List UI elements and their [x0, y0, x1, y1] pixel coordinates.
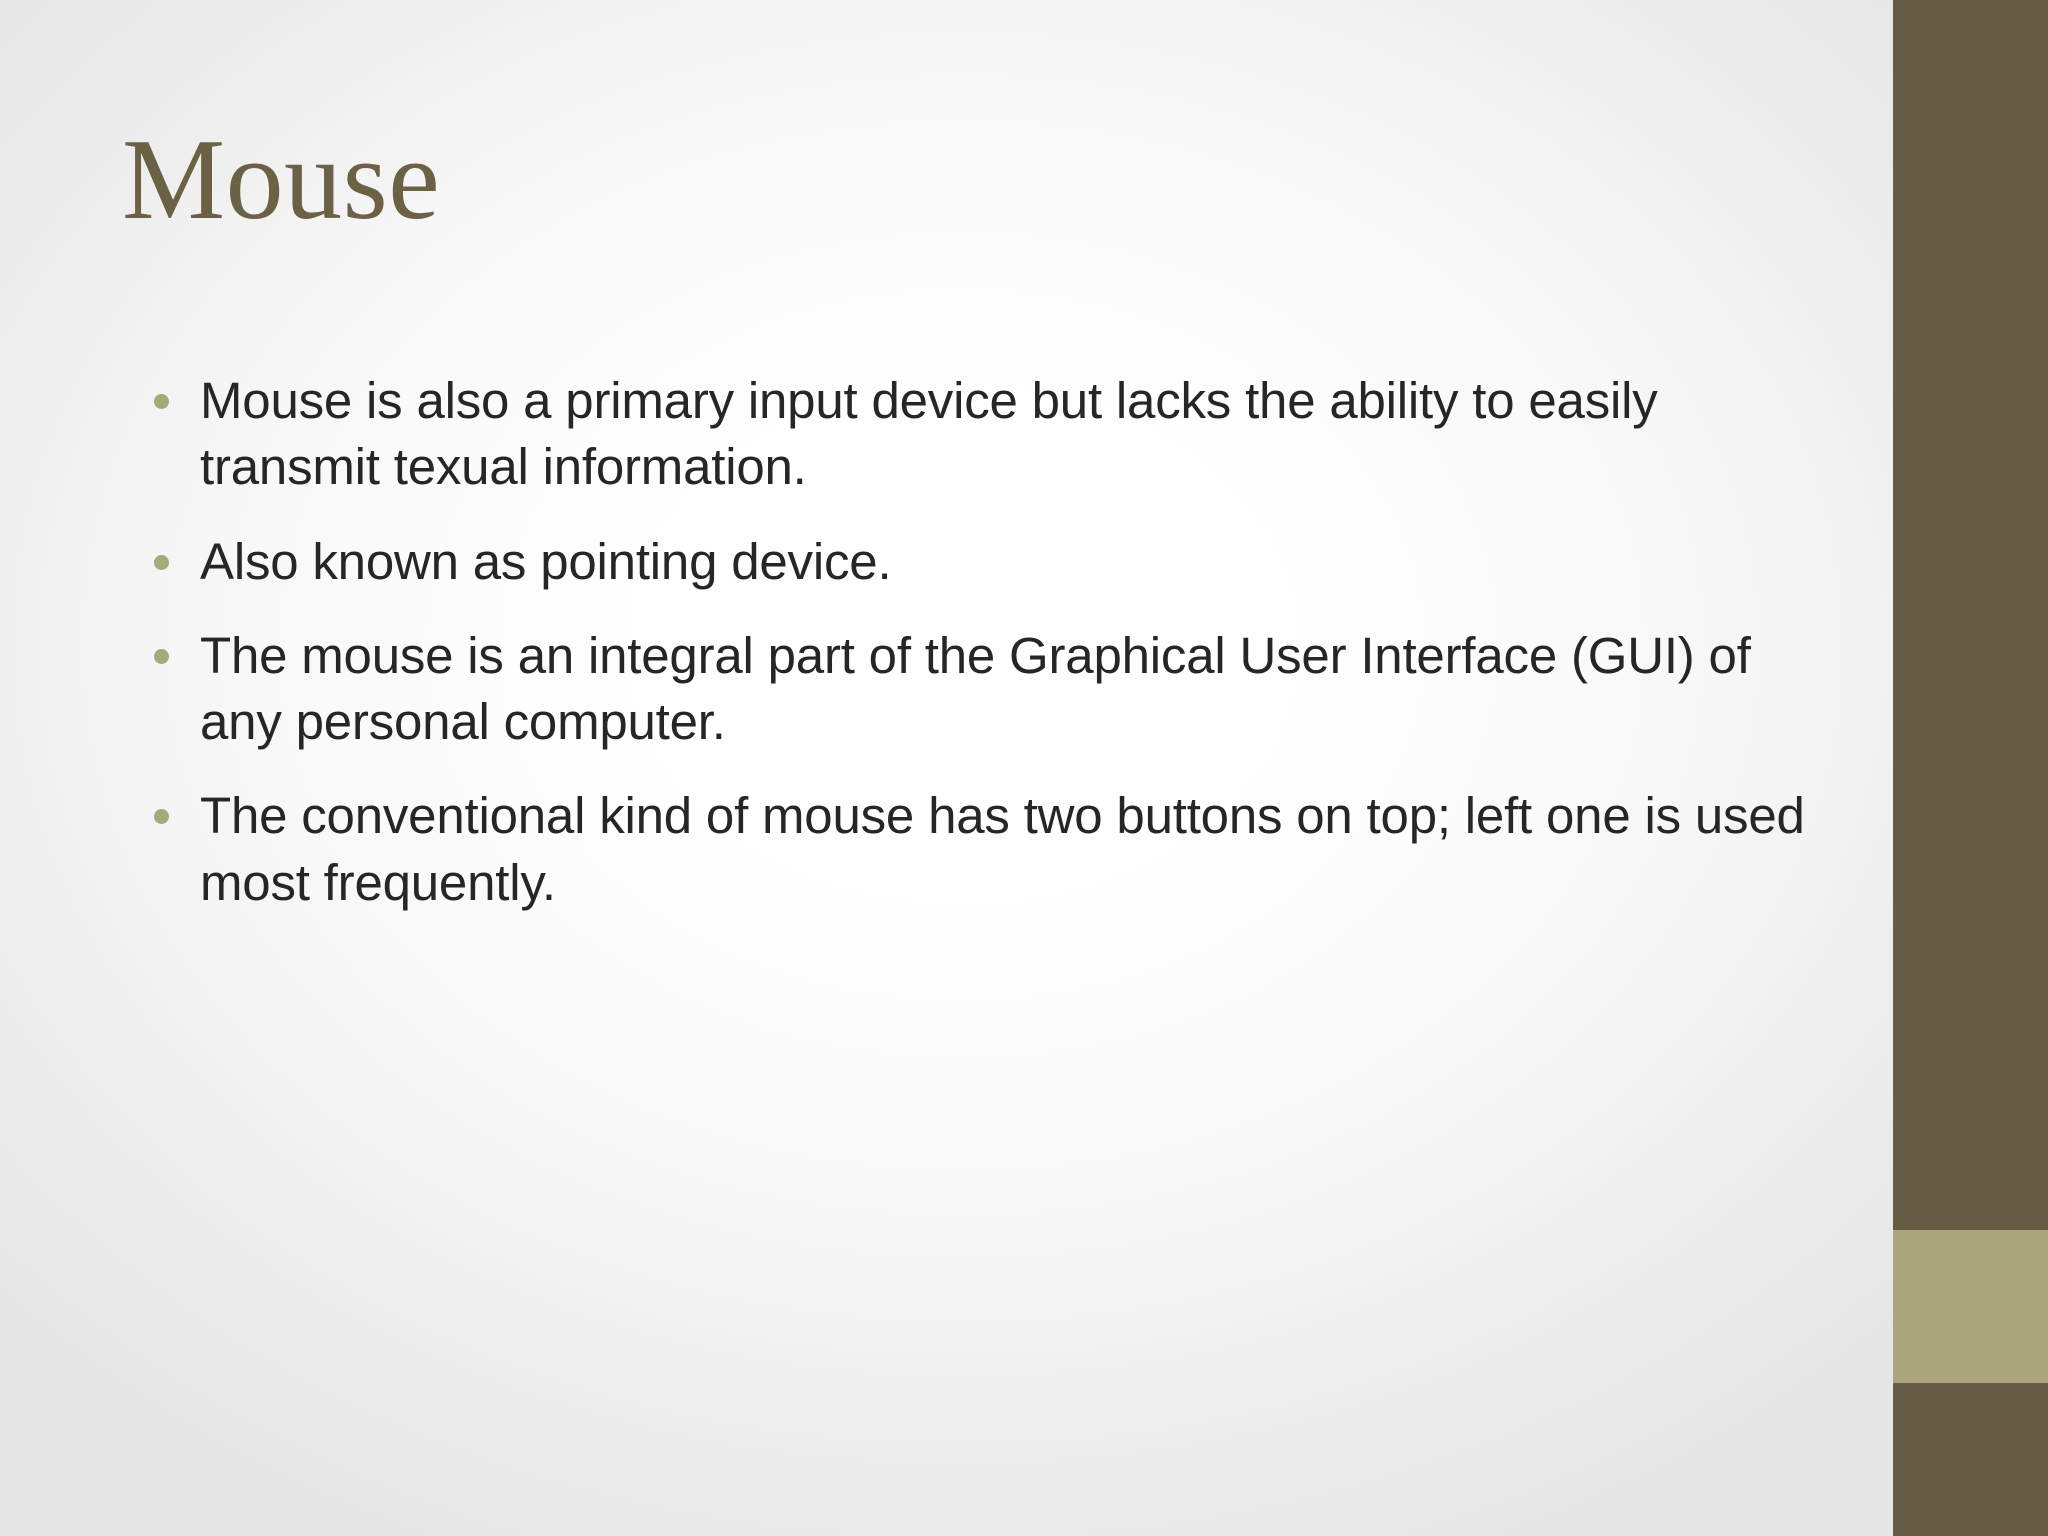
- bullet-dot-icon: [154, 394, 169, 409]
- sidebar-accent-band: [1893, 1230, 2048, 1383]
- body-content-block: Mouse is also a primary input device but…: [132, 368, 1832, 916]
- page-title: Mouse: [122, 118, 1772, 243]
- slide-canvas: Mouse Mouse is also a primary input devi…: [0, 0, 2048, 1536]
- list-item: The conventional kind of mouse has two b…: [132, 783, 1820, 916]
- bullet-dot-icon: [154, 555, 169, 570]
- bullet-text: The conventional kind of mouse has two b…: [200, 783, 1820, 916]
- list-item: The mouse is an integral part of the Gra…: [132, 623, 1820, 756]
- bullet-text: The mouse is an integral part of the Gra…: [200, 623, 1820, 756]
- list-item: Mouse is also a primary input device but…: [132, 368, 1820, 501]
- list-item: Also known as pointing device.: [132, 529, 1820, 595]
- bullet-dot-icon: [154, 649, 169, 664]
- bullet-dot-icon: [154, 809, 169, 824]
- title-block: Mouse: [122, 118, 1772, 243]
- bullet-text: Also known as pointing device.: [200, 529, 1820, 595]
- decorative-sidebar: [1893, 0, 2048, 1536]
- bullet-text: Mouse is also a primary input device but…: [200, 368, 1820, 501]
- bullet-list: Mouse is also a primary input device but…: [132, 368, 1832, 916]
